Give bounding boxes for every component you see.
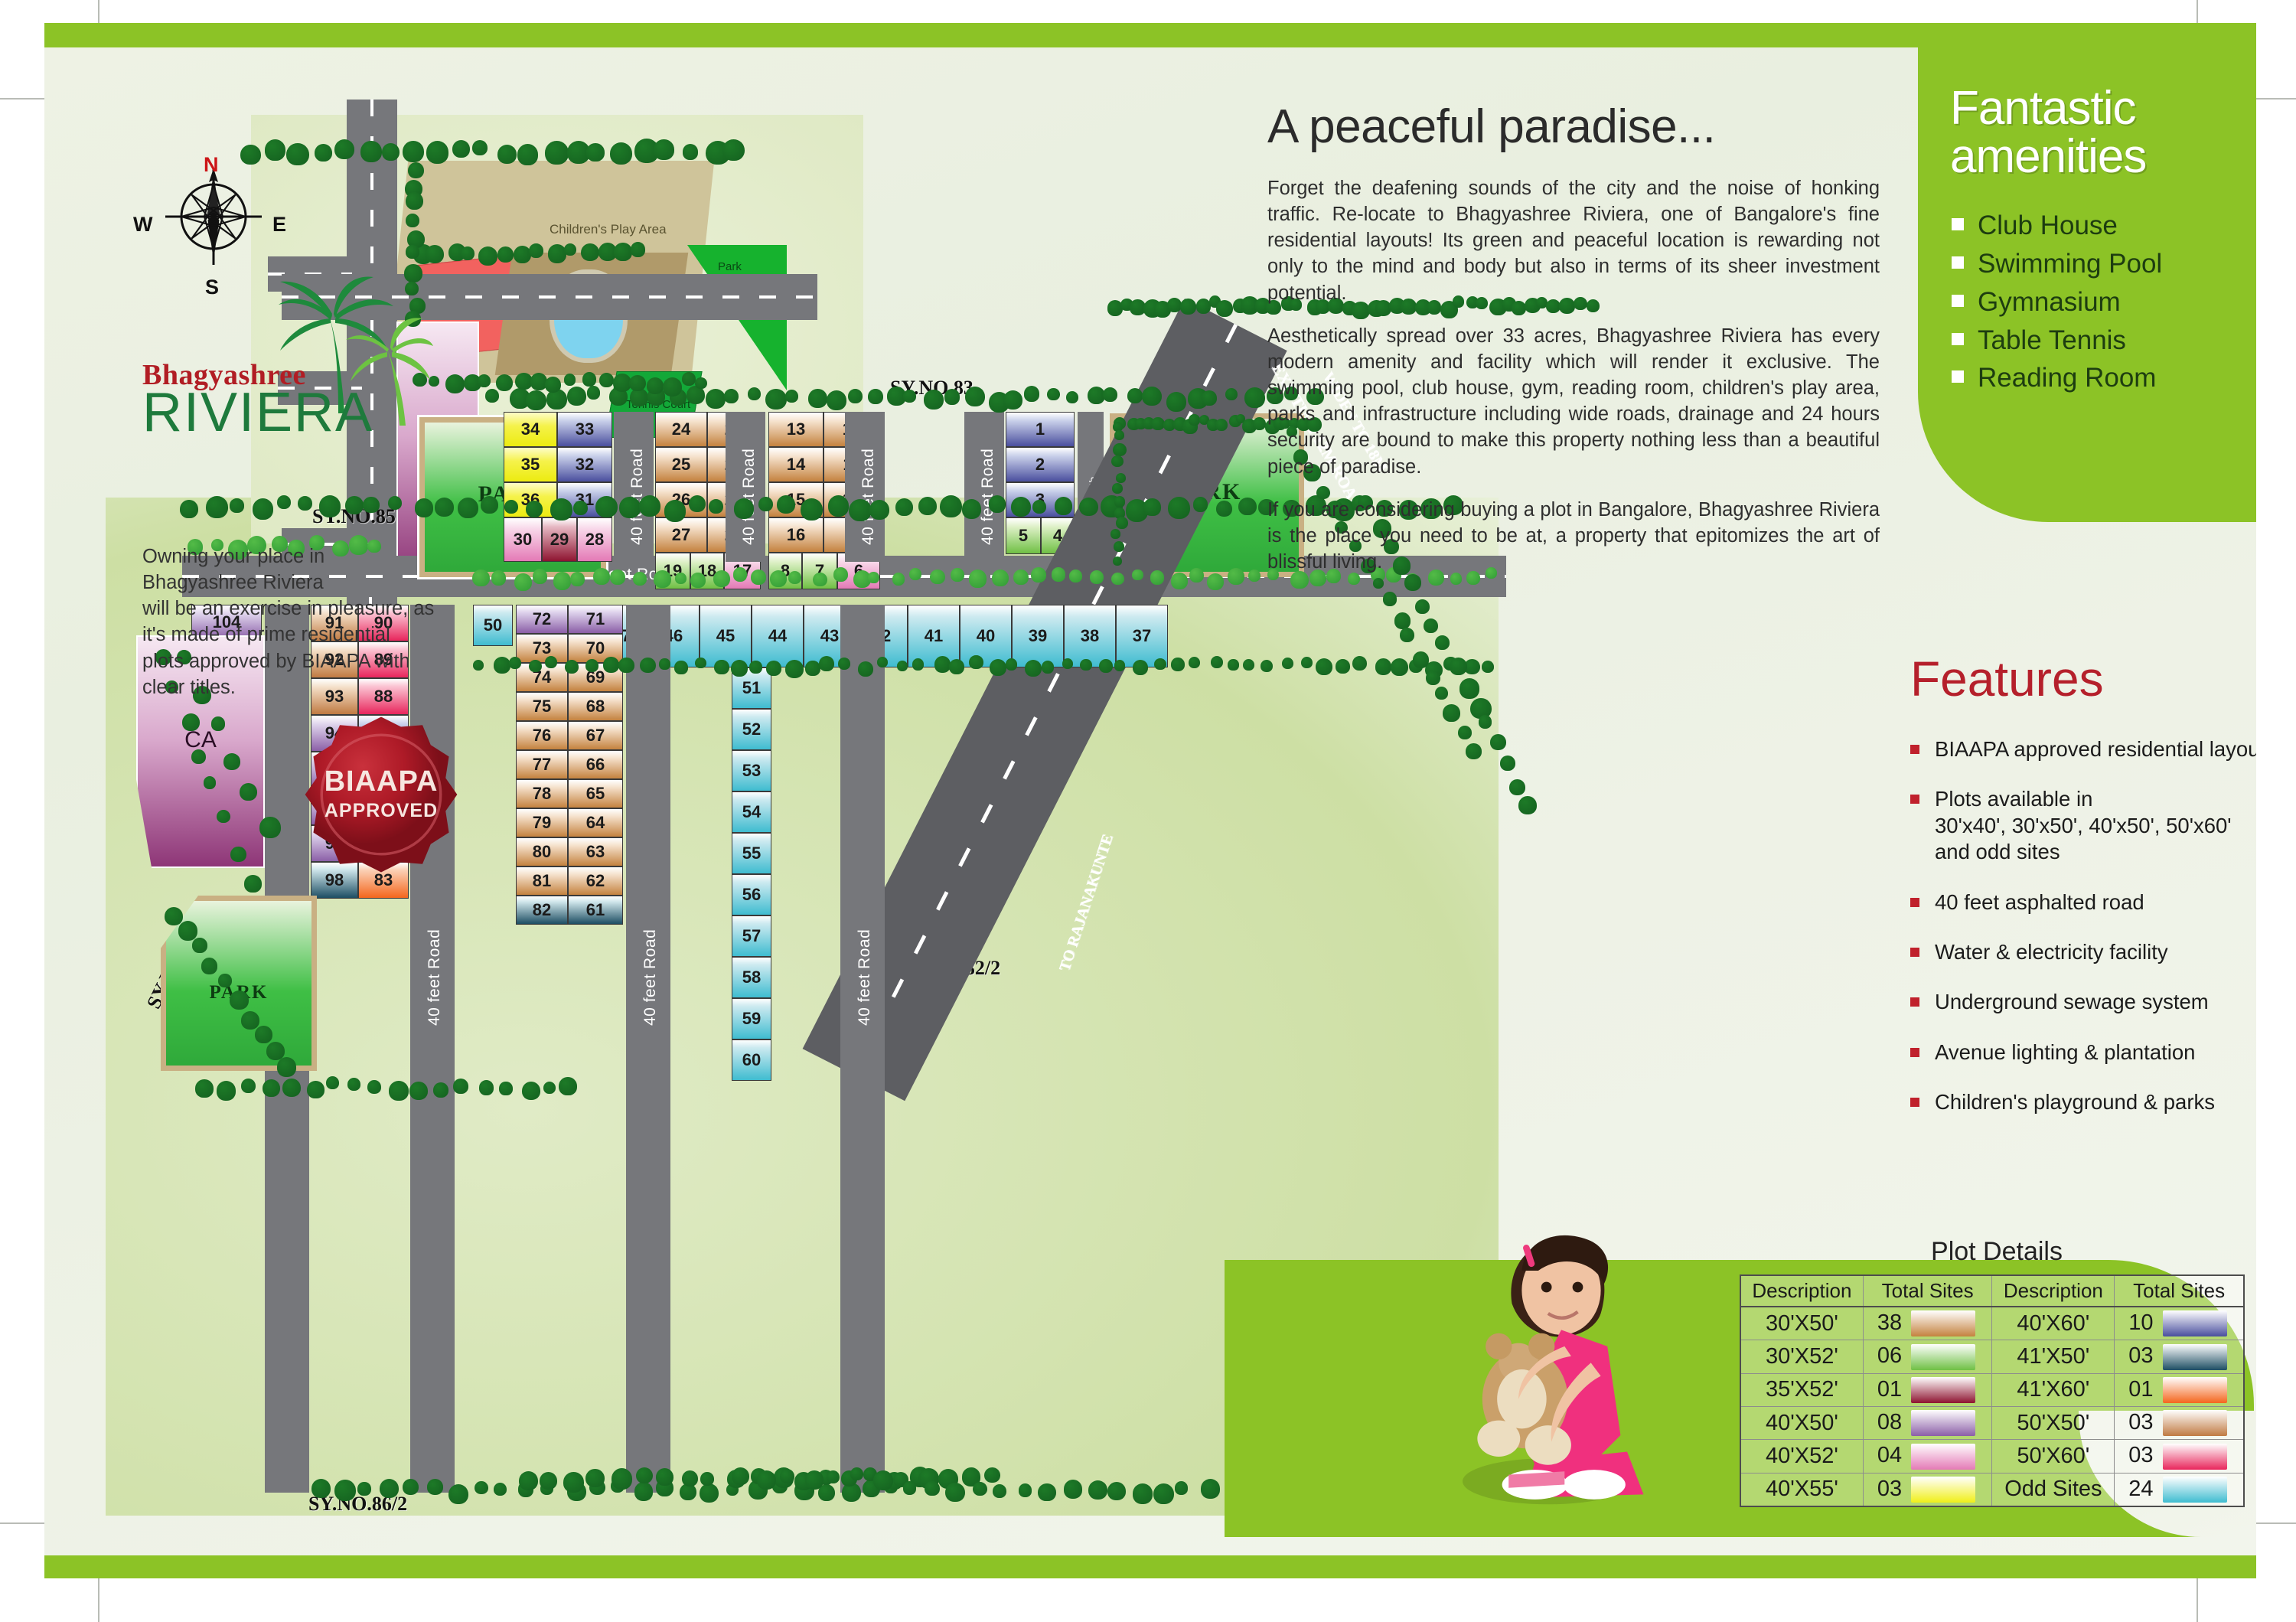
road-v-l4 bbox=[840, 605, 885, 1493]
tree-icon bbox=[263, 1079, 280, 1097]
tree-icon bbox=[1253, 417, 1266, 430]
tree-icon bbox=[533, 569, 547, 583]
plot-cell[interactable]: 5 bbox=[1006, 517, 1041, 554]
tree-icon bbox=[757, 1470, 776, 1490]
plot-cell[interactable]: 16 bbox=[768, 517, 823, 553]
copy-paragraph-2: Aesthetically spread over 33 acres, Bhag… bbox=[1267, 323, 1880, 480]
tree-icon bbox=[1443, 704, 1459, 721]
tree-icon bbox=[700, 1472, 714, 1486]
tree-icon bbox=[403, 1479, 419, 1495]
amenity-label: Swimming Pool bbox=[1978, 249, 2162, 279]
plot-number: 67 bbox=[586, 726, 605, 746]
tree-icon bbox=[868, 389, 883, 404]
plot-number: 24 bbox=[672, 419, 690, 439]
feature-label: Underground sewage system bbox=[1935, 990, 2209, 1013]
tree-icon bbox=[1238, 498, 1256, 515]
plot-cell[interactable]: 67 bbox=[568, 721, 623, 750]
tree-icon bbox=[553, 572, 571, 589]
copy-paragraph-1: Forget the deafening sounds of the city … bbox=[1267, 175, 1880, 306]
tree-icon bbox=[732, 1467, 749, 1485]
table-column-header: Total Sites bbox=[2115, 1275, 2244, 1307]
plot-cell[interactable]: 45 bbox=[700, 605, 752, 667]
plot-cell[interactable]: 29 bbox=[542, 517, 577, 562]
plot-size-cell: Odd Sites bbox=[1992, 1473, 2115, 1506]
tree-icon bbox=[993, 1484, 1006, 1498]
tree-icon bbox=[1352, 656, 1367, 671]
plot-number: 77 bbox=[533, 755, 551, 775]
tree-icon bbox=[406, 245, 419, 258]
tree-icon bbox=[912, 658, 924, 670]
bullet-square-icon bbox=[1910, 898, 1919, 907]
color-swatch bbox=[2163, 1410, 2227, 1436]
plot-cell[interactable]: 73 bbox=[516, 634, 568, 663]
table-column-header: Description bbox=[1740, 1275, 1863, 1307]
plot-size-cell: 40'X60' bbox=[1992, 1307, 2115, 1340]
plot-number: 1 bbox=[1035, 419, 1045, 439]
tree-icon bbox=[989, 495, 1006, 513]
tree-icon bbox=[827, 1470, 840, 1483]
color-swatch bbox=[1911, 1410, 1975, 1436]
bullet-square-icon bbox=[1952, 295, 1964, 307]
plot-count-cell: 10 bbox=[2115, 1307, 2244, 1340]
plot-number: 70 bbox=[586, 638, 605, 658]
tree-icon bbox=[903, 390, 916, 403]
tree-icon bbox=[785, 660, 804, 678]
tree-icon bbox=[1079, 498, 1098, 517]
plot-cell[interactable]: 39 bbox=[1012, 605, 1064, 667]
tree-icon bbox=[545, 656, 557, 668]
tree-icon bbox=[1113, 556, 1122, 566]
tree-icon bbox=[1458, 726, 1472, 739]
tree-icon bbox=[1243, 659, 1254, 671]
plot-cell[interactable]: 32 bbox=[557, 447, 612, 482]
tree-icon bbox=[165, 907, 183, 925]
plot-cell[interactable]: 65 bbox=[568, 779, 623, 808]
tree-icon bbox=[1154, 658, 1166, 671]
tree-icon bbox=[1133, 1483, 1153, 1504]
plot-number: 51 bbox=[742, 678, 761, 698]
plot-number: 16 bbox=[787, 525, 805, 545]
plot-number: 61 bbox=[586, 900, 605, 920]
tree-icon bbox=[777, 495, 795, 514]
tree-icon bbox=[848, 389, 863, 403]
tree-icon bbox=[599, 373, 614, 387]
tree-icon bbox=[485, 389, 499, 403]
plot-cell[interactable]: 2 bbox=[1006, 447, 1075, 482]
plot-cell[interactable]: 79 bbox=[516, 808, 568, 837]
tree-icon bbox=[472, 569, 489, 586]
plot-cell[interactable]: 63 bbox=[568, 837, 623, 866]
plot-cell[interactable]: 33 bbox=[557, 412, 612, 447]
tree-icon bbox=[191, 749, 206, 764]
plot-details-title: Plot Details bbox=[1740, 1237, 2254, 1267]
amenity-item: Swimming Pool bbox=[1952, 245, 2256, 283]
compass-s: S bbox=[205, 276, 219, 299]
plot-count-cell: 04 bbox=[1863, 1440, 1992, 1473]
tree-icon bbox=[564, 243, 576, 256]
plot-cell[interactable]: 54 bbox=[732, 791, 771, 833]
tree-icon bbox=[1415, 599, 1430, 614]
plot-number: 30 bbox=[514, 530, 532, 550]
plot-cell[interactable]: 34 bbox=[504, 412, 557, 447]
tree-icon bbox=[519, 1471, 539, 1491]
tree-icon bbox=[877, 657, 888, 667]
tree-icon bbox=[984, 1467, 1000, 1483]
tree-icon bbox=[1062, 658, 1074, 670]
plot-cell[interactable]: 62 bbox=[568, 866, 623, 896]
tree-icon bbox=[748, 387, 761, 400]
amenities-panel: Fantastic amenities Club HouseSwimming P… bbox=[1918, 47, 2256, 522]
tree-icon bbox=[1426, 671, 1440, 685]
tree-icon bbox=[675, 573, 687, 584]
color-swatch bbox=[1911, 1444, 1975, 1470]
plot-cell[interactable]: 44 bbox=[752, 605, 804, 667]
plot-count-cell: 06 bbox=[1863, 1340, 1992, 1373]
tree-icon bbox=[380, 1479, 399, 1498]
plot-cell[interactable]: 35 bbox=[504, 447, 557, 482]
plot-cell[interactable]: 74 bbox=[516, 663, 568, 692]
table-row: 40'X52'0450'X60'03 bbox=[1740, 1440, 2244, 1473]
tree-icon bbox=[614, 243, 631, 260]
plot-size-cell: 41'X50' bbox=[1992, 1340, 2115, 1373]
plot-number: 59 bbox=[742, 1009, 761, 1029]
tree-icon bbox=[415, 498, 433, 517]
tree-icon bbox=[951, 568, 964, 582]
plot-number: 55 bbox=[742, 844, 761, 863]
tree-icon bbox=[1383, 592, 1397, 605]
tree-icon bbox=[714, 660, 729, 674]
tree-icon bbox=[706, 389, 726, 409]
plot-cell[interactable]: 71 bbox=[568, 605, 623, 634]
tree-icon bbox=[586, 143, 604, 161]
tree-icon bbox=[282, 1079, 301, 1097]
tree-icon bbox=[206, 496, 228, 518]
plot-cell[interactable]: 57 bbox=[732, 915, 771, 957]
tree-icon bbox=[178, 921, 197, 940]
tree-icon bbox=[1038, 1483, 1055, 1501]
plot-cell[interactable]: 14 bbox=[768, 447, 823, 482]
bullet-square-icon bbox=[1910, 745, 1919, 754]
tree-icon bbox=[1055, 497, 1073, 515]
plot-details-table: DescriptionTotal SitesDescriptionTotal S… bbox=[1740, 1274, 2245, 1507]
plot-cell[interactable]: 50 bbox=[473, 605, 513, 646]
tree-icon bbox=[1111, 573, 1124, 586]
plot-count-cell: 24 bbox=[2115, 1473, 2244, 1506]
plot-cell[interactable]: 76 bbox=[516, 721, 568, 750]
tree-icon bbox=[458, 498, 478, 518]
tree-icon bbox=[631, 242, 645, 256]
amenities-title: Fantastic amenities bbox=[1918, 47, 2256, 181]
road-label-v-n3: 40 feet Road bbox=[859, 449, 878, 545]
plot-cell[interactable]: 13 bbox=[768, 412, 823, 447]
plot-cell[interactable]: 72 bbox=[516, 605, 568, 634]
tree-icon bbox=[827, 390, 846, 410]
plot-cell[interactable]: 64 bbox=[568, 808, 623, 837]
tree-icon bbox=[808, 389, 827, 408]
tree-icon bbox=[522, 1082, 540, 1100]
tree-icon bbox=[695, 658, 706, 668]
tree-icon bbox=[1047, 388, 1059, 400]
tree-icon bbox=[801, 498, 823, 521]
tree-icon bbox=[363, 497, 379, 513]
color-swatch bbox=[1911, 1310, 1975, 1336]
table-column-header: Description bbox=[1992, 1275, 2115, 1307]
bullet-square-icon bbox=[1952, 218, 1964, 230]
tree-icon bbox=[1228, 568, 1244, 585]
plot-cell[interactable]: 60 bbox=[732, 1039, 771, 1081]
tree-icon bbox=[1202, 390, 1217, 406]
tree-icon bbox=[435, 498, 454, 517]
tree-icon bbox=[858, 661, 874, 677]
tree-icon bbox=[664, 500, 686, 521]
tree-icon bbox=[766, 661, 781, 676]
tree-icon bbox=[758, 497, 773, 511]
tree-icon bbox=[334, 1480, 356, 1501]
tree-icon bbox=[593, 568, 610, 585]
tree-icon bbox=[1375, 658, 1391, 674]
plot-number: 45 bbox=[716, 626, 735, 646]
tree-icon bbox=[1207, 573, 1224, 590]
features-title: Features bbox=[1910, 651, 2256, 707]
brand-logo: Bhagyashree RIVIERA bbox=[142, 321, 464, 475]
plot-number: 82 bbox=[533, 900, 551, 920]
tree-icon bbox=[1248, 569, 1261, 582]
tree-icon bbox=[689, 495, 706, 512]
plot-size-cell: 40'X50' bbox=[1740, 1407, 1863, 1440]
tree-icon bbox=[217, 810, 230, 824]
tree-icon bbox=[1013, 569, 1029, 585]
tree-icon bbox=[780, 1469, 794, 1483]
tree-icon bbox=[965, 387, 985, 406]
tree-icon bbox=[1110, 529, 1120, 539]
tree-icon bbox=[633, 572, 647, 586]
plot-number: 80 bbox=[533, 842, 551, 862]
plot-cell[interactable]: 61 bbox=[568, 896, 623, 925]
plot-number: 27 bbox=[672, 525, 690, 545]
feature-label: 40 feet asphalted road bbox=[1935, 890, 2144, 914]
tree-icon bbox=[640, 658, 655, 673]
ownership-blurb: Owning your place in Bhagyashree Riviera… bbox=[142, 543, 448, 700]
plot-number: 73 bbox=[533, 638, 551, 658]
tree-icon bbox=[1193, 497, 1208, 511]
plot-number: 66 bbox=[586, 755, 605, 775]
tree-icon bbox=[873, 1470, 894, 1491]
tree-icon bbox=[540, 1472, 557, 1490]
plot-number: 75 bbox=[533, 697, 551, 716]
tree-icon bbox=[612, 1468, 633, 1490]
plot-cell[interactable]: 77 bbox=[516, 750, 568, 779]
road-label-v-l3: 40 feet Road bbox=[641, 929, 660, 1026]
tree-icon bbox=[334, 139, 354, 159]
feature-item: Avenue lighting & plantation bbox=[1910, 1039, 2256, 1066]
tree-icon bbox=[749, 661, 762, 673]
tree-icon bbox=[481, 496, 498, 514]
amenities-list: Club HouseSwimming PoolGymnasiumTable Te… bbox=[1918, 207, 2256, 397]
plot-cell[interactable]: 68 bbox=[568, 692, 623, 721]
tree-icon bbox=[360, 141, 382, 162]
tree-icon bbox=[805, 661, 820, 675]
amenity-item: Club House bbox=[1952, 207, 2256, 245]
tree-icon bbox=[663, 377, 682, 397]
tree-icon bbox=[1171, 658, 1185, 671]
tree-icon bbox=[526, 390, 546, 410]
tree-icon bbox=[357, 1482, 370, 1495]
feature-item: Children's playground & parks bbox=[1910, 1089, 2256, 1115]
amenity-label: Club House bbox=[1978, 211, 2118, 240]
tree-icon bbox=[550, 498, 572, 520]
tree-icon bbox=[850, 1467, 863, 1480]
tree-icon bbox=[315, 144, 332, 162]
table-column-header: Total Sites bbox=[1863, 1275, 1992, 1307]
tree-icon bbox=[406, 192, 423, 210]
table-row: 30'X50'3840'X60'10 bbox=[1740, 1307, 2244, 1340]
brochure-sheet: Children's Play Area CLUB Tennis Court P… bbox=[44, 23, 2256, 1578]
tree-icon bbox=[849, 499, 872, 522]
tree-icon bbox=[1435, 687, 1448, 700]
tree-icon bbox=[478, 246, 497, 266]
tree-icon bbox=[944, 389, 960, 405]
tree-icon bbox=[1031, 567, 1046, 583]
plot-cell[interactable]: 75 bbox=[516, 692, 568, 721]
tree-icon bbox=[925, 1481, 939, 1496]
tree-icon bbox=[472, 140, 488, 155]
plot-size-cell: 50'X60' bbox=[1992, 1440, 2115, 1473]
plot-count-cell: 03 bbox=[2115, 1440, 2244, 1473]
tree-icon bbox=[217, 1081, 236, 1100]
plot-number: 13 bbox=[787, 419, 805, 439]
plot-cell[interactable]: 38 bbox=[1064, 605, 1116, 667]
copy-heading: A peaceful paradise... bbox=[1267, 100, 1880, 154]
tree-icon bbox=[895, 498, 913, 516]
color-swatch bbox=[2163, 1377, 2227, 1403]
tree-icon bbox=[813, 573, 827, 586]
tree-icon bbox=[585, 1469, 604, 1487]
plot-cell[interactable]: 52 bbox=[732, 709, 771, 750]
tree-icon bbox=[969, 569, 987, 588]
color-swatch bbox=[1911, 1477, 1975, 1503]
amenity-item: Table Tennis bbox=[1952, 321, 2256, 360]
plot-cell[interactable]: 59 bbox=[732, 998, 771, 1039]
tree-icon bbox=[1435, 635, 1450, 650]
plot-cell[interactable]: 53 bbox=[732, 750, 771, 791]
tree-icon bbox=[1142, 387, 1161, 406]
plot-number: 33 bbox=[576, 419, 594, 439]
plot-number: 57 bbox=[742, 926, 761, 946]
tree-icon bbox=[930, 569, 945, 585]
tree-icon bbox=[453, 1079, 468, 1094]
features-list: BIAAPA approved residential layoutPlots … bbox=[1910, 736, 2256, 1115]
color-swatch bbox=[1911, 1344, 1975, 1370]
bullet-square-icon bbox=[1952, 370, 1964, 383]
plot-cell[interactable]: 40 bbox=[960, 605, 1012, 667]
plot-count-cell: 08 bbox=[1863, 1407, 1992, 1440]
plot-number: 39 bbox=[1029, 626, 1047, 646]
copy-paragraph-3: If you are considering buying a plot in … bbox=[1267, 497, 1880, 575]
feature-item: Plots available in 30'x40', 30'x50', 40'… bbox=[1910, 786, 2256, 865]
plot-count-cell: 38 bbox=[1863, 1307, 1992, 1340]
plot-size-cell: 35'X52' bbox=[1740, 1373, 1863, 1406]
plot-number: 58 bbox=[742, 968, 761, 987]
tree-icon bbox=[195, 1079, 214, 1098]
tree-icon bbox=[452, 140, 470, 158]
tree-icon bbox=[819, 656, 834, 671]
top-green-bar bbox=[44, 23, 2256, 47]
tree-icon bbox=[1114, 541, 1124, 552]
plot-cell[interactable]: 28 bbox=[577, 517, 612, 562]
tree-icon bbox=[724, 389, 739, 403]
plot-cell[interactable]: 1 bbox=[1006, 412, 1075, 447]
tree-icon bbox=[497, 246, 514, 263]
plot-number: 28 bbox=[585, 530, 604, 550]
plot-size-cell: 30'X50' bbox=[1740, 1307, 1863, 1340]
tree-icon bbox=[473, 660, 484, 671]
tree-icon bbox=[545, 141, 569, 165]
plot-cell[interactable]: 24 bbox=[655, 412, 707, 447]
plot-cell[interactable]: 58 bbox=[732, 957, 771, 998]
tree-icon bbox=[838, 658, 850, 670]
tree-icon bbox=[695, 377, 707, 390]
tree-icon bbox=[1180, 299, 1195, 314]
park-small-label: Park bbox=[718, 260, 742, 273]
tree-icon bbox=[1216, 300, 1233, 317]
plot-cell[interactable]: 78 bbox=[516, 779, 568, 808]
plot-number: 52 bbox=[742, 720, 761, 739]
tree-icon bbox=[514, 573, 532, 591]
tree-icon bbox=[603, 657, 618, 672]
feature-label: Avenue lighting & plantation bbox=[1935, 1040, 2195, 1064]
plot-details-header-row: DescriptionTotal SitesDescriptionTotal S… bbox=[1740, 1275, 2244, 1307]
feature-item: Underground sewage system bbox=[1910, 989, 2256, 1015]
plot-cell[interactable]: 30 bbox=[504, 517, 542, 562]
plot-cell[interactable]: 56 bbox=[732, 874, 771, 915]
plot-number: 63 bbox=[586, 842, 605, 862]
tree-icon bbox=[1282, 658, 1293, 669]
tree-icon bbox=[1216, 501, 1232, 517]
tree-icon bbox=[722, 139, 745, 162]
tree-icon bbox=[565, 660, 579, 674]
plot-number: 34 bbox=[521, 419, 540, 439]
tree-icon bbox=[1466, 743, 1482, 759]
tree-icon bbox=[311, 1479, 331, 1498]
seal-line-1: BIAAPA bbox=[325, 767, 439, 796]
tree-icon bbox=[1201, 1479, 1221, 1499]
plot-cell[interactable]: 55 bbox=[732, 833, 771, 874]
plot-cell[interactable]: 81 bbox=[516, 866, 568, 896]
tree-icon bbox=[1112, 483, 1123, 494]
tree-icon bbox=[494, 657, 510, 673]
plot-cell[interactable]: 25 bbox=[655, 447, 707, 482]
bottom-green-bar bbox=[44, 1555, 2256, 1578]
tree-icon bbox=[563, 1472, 583, 1492]
tree-icon bbox=[1189, 657, 1200, 668]
tree-icon bbox=[409, 1082, 428, 1100]
tree-icon bbox=[892, 573, 905, 585]
plot-cell[interactable]: 27 bbox=[655, 517, 707, 553]
tree-icon bbox=[587, 386, 600, 399]
tree-icon bbox=[1479, 715, 1492, 728]
amenity-label: Reading Room bbox=[1978, 363, 2156, 393]
tree-icon bbox=[1150, 570, 1164, 584]
tree-icon bbox=[709, 499, 723, 514]
tree-icon bbox=[1153, 1483, 1175, 1505]
plot-cell[interactable]: 66 bbox=[568, 750, 623, 779]
tree-icon bbox=[1459, 678, 1480, 699]
feature-label: Plots available in 30'x40', 30'x50', 40'… bbox=[1935, 787, 2232, 863]
plot-cell[interactable]: 82 bbox=[516, 896, 568, 925]
plot-cell[interactable]: 80 bbox=[516, 837, 568, 866]
plot-size-cell: 41'X60' bbox=[1992, 1373, 2115, 1406]
plot-size-cell: 50'X50' bbox=[1992, 1407, 2115, 1440]
